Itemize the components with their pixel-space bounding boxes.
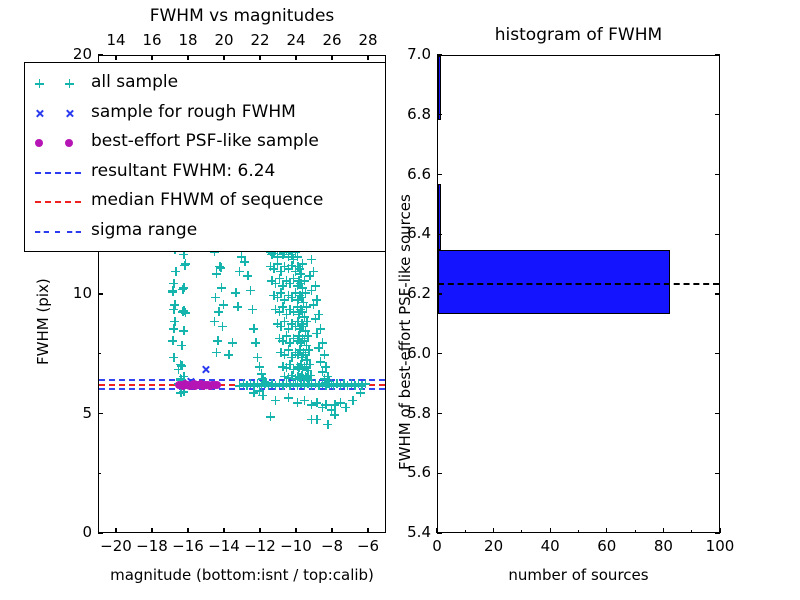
y-tick-label-right-panel: 7.0 bbox=[387, 45, 431, 63]
x-tick-label-right-panel: 20 bbox=[472, 537, 516, 555]
dashed-line-icon bbox=[35, 172, 81, 174]
scatter-point bbox=[169, 324, 178, 333]
x-tick-bottom bbox=[115, 528, 116, 533]
scatter-point bbox=[312, 415, 321, 424]
x-tick-label-right-panel: 60 bbox=[585, 537, 629, 555]
scatter-point bbox=[168, 336, 177, 345]
scatter-point bbox=[178, 285, 187, 294]
y-minor-tick bbox=[98, 473, 101, 474]
scatter-point bbox=[213, 381, 221, 389]
scatter-point bbox=[212, 348, 221, 357]
y-tick-right-panel bbox=[437, 532, 442, 533]
dot-marker-icon bbox=[65, 139, 73, 147]
histogram-bar bbox=[438, 184, 441, 250]
scatter-point bbox=[330, 410, 339, 419]
dashdot-icon-dash bbox=[67, 231, 81, 233]
scatter-point bbox=[314, 343, 323, 352]
y-tick-left bbox=[98, 293, 103, 294]
y-tick-right-panel-mirror bbox=[715, 114, 720, 115]
scatter-point bbox=[168, 287, 177, 296]
y-tick-right-panel bbox=[437, 114, 442, 115]
scatter-point bbox=[218, 322, 227, 331]
scatter-point bbox=[356, 388, 365, 397]
x-minor-tick-right bbox=[691, 530, 692, 533]
y-tick-label-right-panel: 6.6 bbox=[387, 165, 431, 183]
legend-item: sample for rough FWHM bbox=[25, 99, 385, 128]
y-tick-right-panel bbox=[437, 174, 442, 175]
y-tick-left bbox=[98, 54, 103, 55]
histogram-bar bbox=[438, 56, 441, 120]
legend-item: sigma range bbox=[25, 217, 385, 246]
y-minor-tick bbox=[98, 353, 101, 354]
scatter-point bbox=[180, 261, 189, 270]
scatter-point bbox=[305, 360, 314, 369]
x-tick-top bbox=[367, 55, 368, 60]
dot-marker-icon bbox=[35, 139, 43, 147]
y-tick-right-panel-mirror bbox=[715, 532, 720, 533]
x-tick-label-right-panel: 100 bbox=[698, 537, 742, 555]
x-tick-top bbox=[331, 55, 332, 60]
x-tick-label-top: 28 bbox=[346, 31, 390, 49]
x-tick-bottom bbox=[187, 528, 188, 533]
right-xlabel: number of sources bbox=[437, 566, 720, 584]
scatter-point bbox=[284, 393, 293, 402]
x-minor-tick-right bbox=[578, 530, 579, 533]
x-tick-bottom bbox=[151, 528, 152, 533]
dashed-line-icon bbox=[35, 201, 81, 203]
y-tick-right-panel-mirror bbox=[715, 174, 720, 175]
scatter-point bbox=[240, 257, 249, 266]
y-tick-label-right-panel: 5.4 bbox=[387, 523, 431, 541]
y-tick-label-left: 10 bbox=[52, 284, 92, 302]
plus-marker-icon bbox=[35, 79, 44, 88]
x-tick-right-panel bbox=[606, 528, 607, 533]
scatter-point bbox=[248, 305, 257, 314]
scatter-point bbox=[305, 271, 314, 280]
scatter-point bbox=[298, 259, 307, 268]
x-tick-bottom bbox=[367, 528, 368, 533]
scatter-point bbox=[169, 305, 178, 314]
scatter-point bbox=[243, 271, 252, 280]
y-tick-right-panel-mirror bbox=[715, 473, 720, 474]
x-tick-top bbox=[259, 55, 260, 60]
x-tick-bottom bbox=[331, 528, 332, 533]
x-tick-label-bottom: −6 bbox=[346, 537, 390, 555]
scatter-point bbox=[233, 302, 242, 311]
scatter-point bbox=[181, 308, 190, 317]
legend-marker bbox=[29, 99, 87, 128]
y-tick-right-panel-mirror bbox=[715, 413, 720, 414]
scatter-point bbox=[251, 338, 260, 347]
legend-item: median FHWM of sequence bbox=[25, 187, 385, 216]
y-tick-label-left: 0 bbox=[52, 523, 92, 541]
y-tick-right-panel-mirror bbox=[715, 54, 720, 55]
scatter-point bbox=[304, 345, 313, 354]
legend-label: sigma range bbox=[91, 220, 197, 240]
scatter-point bbox=[253, 353, 262, 362]
scatter-point bbox=[201, 365, 210, 374]
plus-marker-icon bbox=[65, 79, 74, 88]
scatter-point bbox=[217, 283, 226, 292]
x-tick-top bbox=[187, 55, 188, 60]
x-tick-top bbox=[295, 55, 296, 60]
scatter-point bbox=[179, 326, 188, 335]
scatter-point bbox=[249, 324, 258, 333]
scatter-point bbox=[323, 420, 332, 429]
scatter-point bbox=[316, 357, 325, 366]
legend-box: all samplesample for rough FWHMbest-effo… bbox=[24, 62, 386, 252]
scatter-point bbox=[171, 267, 180, 276]
legend-marker bbox=[29, 69, 87, 98]
legend-label: median FHWM of sequence bbox=[91, 190, 323, 210]
legend-item: resultant FWHM: 6.24 bbox=[25, 158, 385, 187]
y-tick-left bbox=[98, 413, 103, 414]
figure-canvas: FWHM vs magnitudes −20−18−16−14−12−10−8−… bbox=[0, 0, 800, 600]
legend-item: all sample bbox=[25, 69, 385, 98]
scatter-point bbox=[307, 286, 316, 295]
x-tick-top bbox=[115, 55, 116, 60]
scatter-point bbox=[231, 288, 240, 297]
scatter-point bbox=[311, 314, 320, 323]
legend-marker bbox=[29, 158, 87, 187]
x-tick-bottom bbox=[295, 528, 296, 533]
scatter-point bbox=[246, 286, 255, 295]
x-minor-tick-right bbox=[465, 530, 466, 533]
left-ylabel: FWHM (pix) bbox=[34, 278, 52, 365]
scatter-point bbox=[212, 269, 221, 278]
scatter-point bbox=[312, 329, 321, 338]
scatter-point bbox=[177, 341, 186, 350]
legend-item: best-effort PSF-like sample bbox=[25, 128, 385, 157]
cross-marker-icon bbox=[65, 109, 74, 118]
x-tick-bottom bbox=[259, 528, 260, 533]
right-panel-title: histogram of FWHM bbox=[437, 25, 720, 45]
scatter-point bbox=[307, 255, 316, 264]
scatter-point bbox=[228, 338, 237, 347]
histogram-plot-area bbox=[438, 56, 719, 532]
scatter-point bbox=[266, 412, 275, 421]
y-tick-right-panel bbox=[437, 234, 442, 235]
dashdot-icon-dot bbox=[55, 231, 60, 233]
scatter-point bbox=[303, 331, 312, 340]
y-tick-right-panel bbox=[437, 473, 442, 474]
x-tick-label-right-panel: 40 bbox=[528, 537, 572, 555]
scatter-point bbox=[271, 396, 280, 405]
y-tick-right-panel bbox=[437, 54, 442, 55]
legend-label: best-effort PSF-like sample bbox=[91, 131, 319, 151]
y-tick-label-left: 5 bbox=[52, 404, 92, 422]
legend-marker bbox=[29, 217, 87, 246]
legend-label: resultant FWHM: 6.24 bbox=[91, 161, 275, 181]
left-panel-title: FWHM vs magnitudes bbox=[98, 6, 386, 26]
scatter-point bbox=[214, 307, 223, 316]
scatter-point bbox=[224, 350, 233, 359]
y-tick-right-panel-mirror bbox=[715, 293, 720, 294]
x-minor-tick-right bbox=[635, 530, 636, 533]
scatter-point bbox=[309, 300, 318, 309]
y-tick-left bbox=[98, 532, 103, 533]
dashdot-line-icon bbox=[35, 231, 49, 233]
x-tick-label-right-panel: 80 bbox=[641, 537, 685, 555]
x-tick-top bbox=[151, 55, 152, 60]
y-tick-right-panel bbox=[437, 353, 442, 354]
legend-label: sample for rough FWHM bbox=[91, 102, 296, 122]
x-tick-right-panel bbox=[550, 528, 551, 533]
y-tick-right-panel-mirror bbox=[715, 353, 720, 354]
scatter-point bbox=[255, 386, 264, 395]
x-tick-right-panel bbox=[663, 528, 664, 533]
y-tick-label-right-panel: 6.8 bbox=[387, 105, 431, 123]
resultant-fwhm-line bbox=[438, 283, 719, 285]
y-tick-right-panel bbox=[437, 293, 442, 294]
y-tick-right-panel bbox=[437, 413, 442, 414]
legend-marker bbox=[29, 128, 87, 157]
scatter-point bbox=[213, 336, 222, 345]
x-minor-tick-right bbox=[521, 530, 522, 533]
x-tick-top bbox=[223, 55, 224, 60]
y-tick-right-panel-mirror bbox=[715, 234, 720, 235]
legend-label: all sample bbox=[91, 72, 178, 92]
left-xlabel: magnitude (bottom:isnt / top:calib) bbox=[98, 566, 386, 584]
x-tick-right-panel bbox=[493, 528, 494, 533]
x-tick-bottom bbox=[223, 528, 224, 533]
legend-marker bbox=[29, 187, 87, 216]
y-tick-label-left: 20 bbox=[52, 45, 92, 63]
cross-marker-icon bbox=[35, 109, 44, 118]
right-ylabel: FWHM of best-effort PSF-like sources bbox=[396, 194, 414, 470]
